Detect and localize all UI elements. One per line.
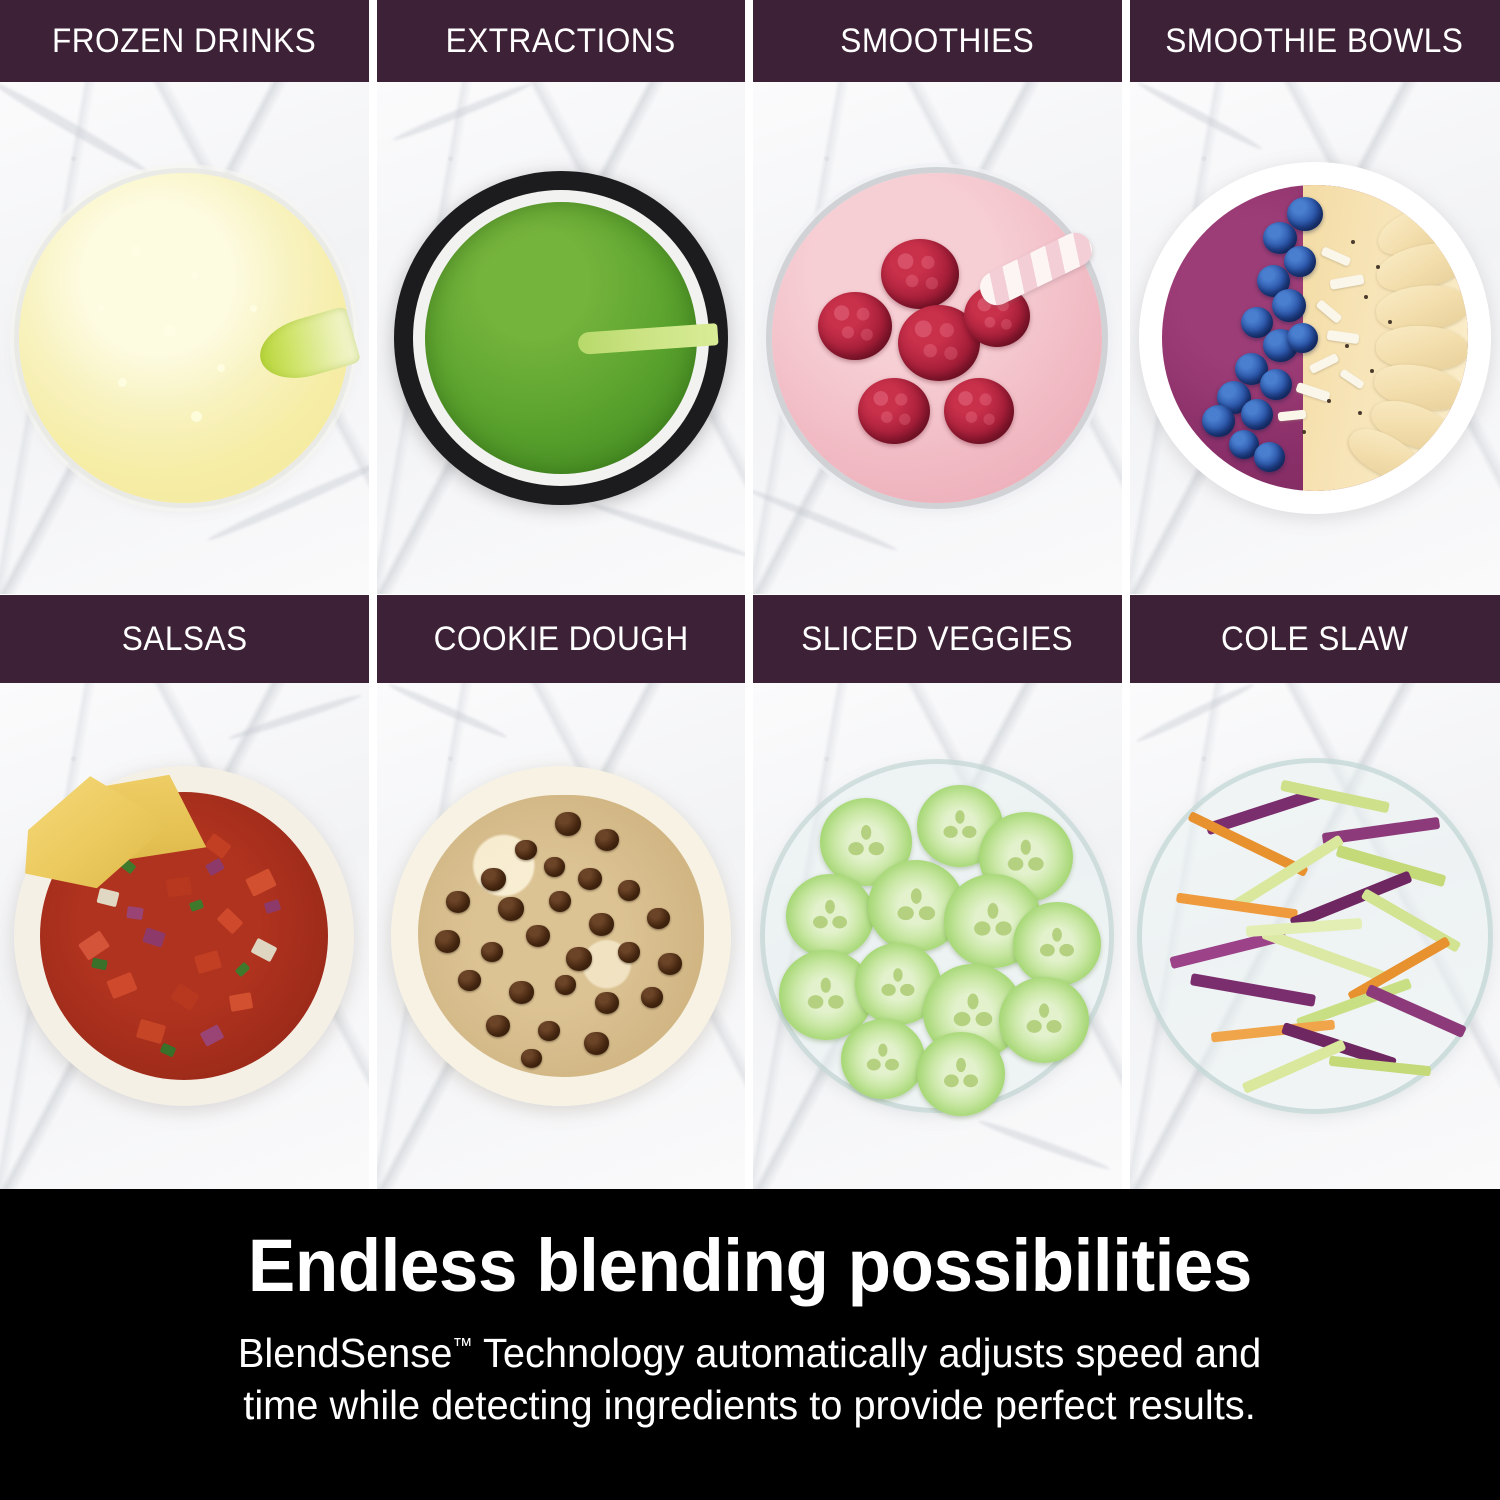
category-panel-frozen-drinks[interactable]: FROZEN DRINKS <box>0 0 369 594</box>
category-header-salsas: SALSAS <box>0 595 369 683</box>
lime-wedge <box>253 306 361 388</box>
category-label: EXTRACTIONS <box>446 22 676 61</box>
smoothie-bowl <box>1139 162 1491 514</box>
food-photo-sliced-veggies <box>753 683 1122 1189</box>
subtitle-rest-2: time while detecting ingredients to prov… <box>244 1382 1256 1428</box>
category-header-smoothie-bowls: SMOOTHIE BOWLS <box>1130 0 1500 82</box>
category-panel-smoothie-bowls[interactable]: SMOOTHIE BOWLS <box>1130 0 1500 594</box>
category-header-sliced-veggies: SLICED VEGGIES <box>753 595 1122 683</box>
food-photo-extractions <box>377 82 746 594</box>
category-header-smoothies: SMOOTHIES <box>753 0 1122 82</box>
category-panel-extractions[interactable]: EXTRACTIONS <box>377 0 746 594</box>
food-photo-cole-slaw <box>1130 683 1500 1189</box>
category-row-1: FROZEN DRINKS <box>0 0 1500 594</box>
category-label: SMOOTHIES <box>840 22 1034 61</box>
category-panel-sliced-veggies[interactable]: SLICED VEGGIES <box>753 595 1122 1189</box>
smoothie-glass <box>772 173 1102 503</box>
cookie-dough-bowl <box>391 766 731 1106</box>
food-photo-smoothie-bowls <box>1130 82 1500 594</box>
product-feature-graphic: FROZEN DRINKS <box>0 0 1500 1500</box>
category-label: SMOOTHIE BOWLS <box>1166 22 1464 61</box>
category-header-frozen-drinks: FROZEN DRINKS <box>0 0 369 82</box>
category-label: SLICED VEGGIES <box>801 620 1073 659</box>
drinking-straw <box>975 228 1098 311</box>
category-panel-salsas[interactable]: SALSAS <box>0 595 369 1189</box>
category-label: FROZEN DRINKS <box>52 22 316 61</box>
subtitle-brand: BlendSense <box>238 1330 452 1376</box>
food-photo-smoothies <box>753 82 1122 594</box>
category-label: COOKIE DOUGH <box>433 620 688 659</box>
cucumber-bowl <box>765 764 1109 1108</box>
cookie-dough <box>418 795 704 1077</box>
category-row-2: SALSAS <box>0 595 1500 1189</box>
acai-base <box>1162 185 1468 491</box>
subtitle: BlendSense™ Technology automatically adj… <box>238 1327 1261 1432</box>
category-label: COLE SLAW <box>1221 620 1409 659</box>
salsa-bowl <box>14 766 354 1106</box>
cole-slaw-bowl <box>1142 763 1488 1109</box>
category-header-cookie-dough: COOKIE DOUGH <box>377 595 746 683</box>
frozen-drink-glass <box>19 173 349 503</box>
tagline-band: Endless blending possibilities BlendSens… <box>0 1189 1500 1500</box>
subtitle-rest-1: Technology automatically adjusts speed a… <box>473 1330 1262 1376</box>
food-photo-frozen-drinks <box>0 82 369 594</box>
food-photo-cookie-dough <box>377 683 746 1189</box>
category-header-cole-slaw: COLE SLAW <box>1130 595 1500 683</box>
headline: Endless blending possibilities <box>248 1227 1252 1305</box>
category-panel-smoothies[interactable]: SMOOTHIES <box>753 0 1122 594</box>
extraction-bowl <box>394 171 728 505</box>
trademark-symbol: ™ <box>453 1334 473 1357</box>
food-photo-salsas <box>0 683 369 1189</box>
category-panel-cole-slaw[interactable]: COLE SLAW <box>1130 595 1500 1189</box>
category-label: SALSAS <box>121 620 247 659</box>
category-panel-cookie-dough[interactable]: COOKIE DOUGH <box>377 595 746 1189</box>
category-header-extractions: EXTRACTIONS <box>377 0 746 82</box>
category-grid: FROZEN DRINKS <box>0 0 1500 1189</box>
